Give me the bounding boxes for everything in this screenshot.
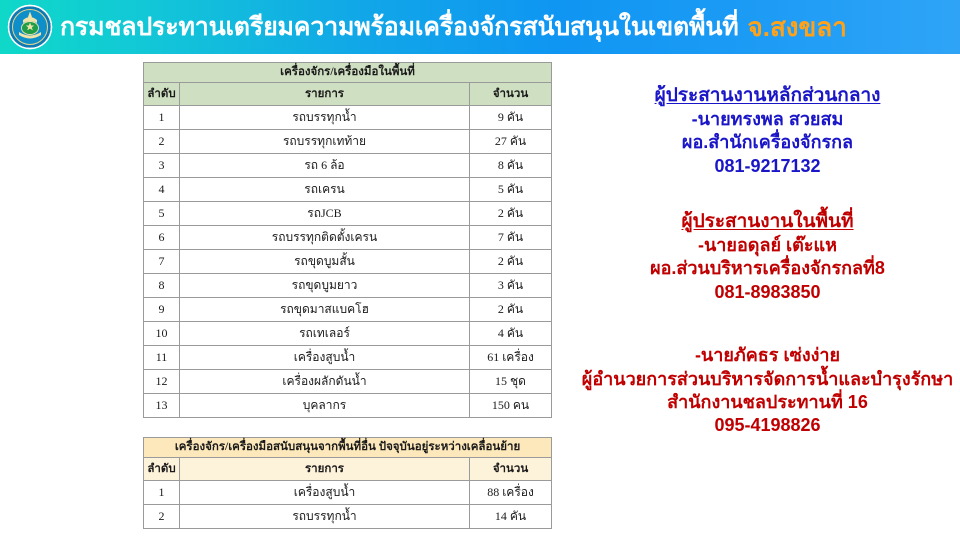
page-header: กรมชลประทานเตรียมความพร้อมเครื่องจักรสนั… xyxy=(0,0,960,54)
table-header-row: ลำดับ รายการ จำนวน xyxy=(144,458,552,481)
table-row: 10 รถเทเลอร์ 4 คัน xyxy=(144,322,552,346)
row-item: รถเครน xyxy=(180,178,470,202)
machinery-table-banner: เครื่องจักร/เครื่องมือในพื้นที่ xyxy=(144,63,552,83)
row-item: รถเทเลอร์ xyxy=(180,322,470,346)
row-qty: 27 คัน xyxy=(470,130,552,154)
table-row: 7 รถขุดบูมสั้น 2 คัน xyxy=(144,250,552,274)
row-qty: 8 คัน xyxy=(470,154,552,178)
row-qty: 14 คัน xyxy=(470,505,552,529)
row-no: 9 xyxy=(144,298,180,322)
contact-block-central-coordinator: ผู้ประสานงานหลักส่วนกลาง -นายทรงพล สวยสม… xyxy=(575,84,960,178)
row-no: 13 xyxy=(144,394,180,418)
row-qty: 15 ชุด xyxy=(470,370,552,394)
contact-name: -นายทรงพล สวยสม xyxy=(575,108,960,131)
row-item: รถ 6 ล้อ xyxy=(180,154,470,178)
row-no: 8 xyxy=(144,274,180,298)
row-qty: 3 คัน xyxy=(470,274,552,298)
contact-phone[interactable]: 081-8983850 xyxy=(575,281,960,304)
row-no: 1 xyxy=(144,106,180,130)
table-row: 2 รถบรรทุกเทท้าย 27 คัน xyxy=(144,130,552,154)
contact-role: ผอ.สำนักเครื่องจักรกล xyxy=(575,131,960,154)
page-title: กรมชลประทานเตรียมความพร้อมเครื่องจักรสนั… xyxy=(60,0,847,54)
table-row: 2 รถบรรทุกน้ำ 14 คัน xyxy=(144,505,552,529)
contact-role: ผู้อำนวยการส่วนบริหารจัดการน้ำและบำรุงรั… xyxy=(575,368,960,391)
row-item: รถบรรทุกเทท้าย xyxy=(180,130,470,154)
row-no: 6 xyxy=(144,226,180,250)
row-qty: 150 คน xyxy=(470,394,552,418)
contact-block-local-coordinator: ผู้ประสานงานในพื้นที่ -นายอดุลย์ เต๊ะแห … xyxy=(575,210,960,304)
contact-panel: ผู้ประสานงานหลักส่วนกลาง -นายทรงพล สวยสม… xyxy=(575,84,960,456)
incoming-support-machinery-table: เครื่องจักร/เครื่องมือสนับสนุนจากพื้นที่… xyxy=(143,437,552,529)
row-no: 7 xyxy=(144,250,180,274)
spacer xyxy=(575,322,960,344)
incoming-table-banner: เครื่องจักร/เครื่องมือสนับสนุนจากพื้นที่… xyxy=(144,438,552,458)
row-qty: 2 คัน xyxy=(470,202,552,226)
royal-irrigation-department-emblem-icon xyxy=(7,4,53,50)
row-qty: 5 คัน xyxy=(470,178,552,202)
spacer xyxy=(575,196,960,210)
table-row: 1 เครื่องสูบน้ำ 88 เครื่อง xyxy=(144,481,552,505)
page-title-main: กรมชลประทานเตรียมความพร้อมเครื่องจักรสนั… xyxy=(60,7,738,47)
row-qty: 2 คัน xyxy=(470,298,552,322)
table-row: 3 รถ 6 ล้อ 8 คัน xyxy=(144,154,552,178)
column-header-item: รายการ xyxy=(180,83,470,106)
row-no: 12 xyxy=(144,370,180,394)
incoming-table-body: 1 เครื่องสูบน้ำ 88 เครื่อง 2 รถบรรทุกน้ำ… xyxy=(144,481,552,529)
page-title-province: จ.สงขลา xyxy=(747,7,846,48)
column-header-no: ลำดับ xyxy=(144,83,180,106)
row-item: รถขุดมาสแบคโฮ xyxy=(180,298,470,322)
row-no: 1 xyxy=(144,481,180,505)
table-row: 4 รถเครน 5 คัน xyxy=(144,178,552,202)
table-banner-row: เครื่องจักร/เครื่องมือสนับสนุนจากพื้นที่… xyxy=(144,438,552,458)
table-row: 5 รถJCB 2 คัน xyxy=(144,202,552,226)
table-banner-row: เครื่องจักร/เครื่องมือในพื้นที่ xyxy=(144,63,552,83)
row-item: บุคลากร xyxy=(180,394,470,418)
contact-heading: ผู้ประสานงานในพื้นที่ xyxy=(575,210,960,234)
contact-name: -นายอดุลย์ เต๊ะแห xyxy=(575,234,960,257)
column-header-no: ลำดับ xyxy=(144,458,180,481)
column-header-qty: จำนวน xyxy=(470,83,552,106)
row-qty: 61 เครื่อง xyxy=(470,346,552,370)
contact-office: สำนักงานชลประทานที่ 16 xyxy=(575,391,960,414)
row-qty: 7 คัน xyxy=(470,226,552,250)
row-item: รถบรรทุกติดตั้งเครน xyxy=(180,226,470,250)
contact-heading: ผู้ประสานงานหลักส่วนกลาง xyxy=(575,84,960,108)
row-item: รถบรรทุกน้ำ xyxy=(180,505,470,529)
table-row: 13 บุคลากร 150 คน xyxy=(144,394,552,418)
row-no: 11 xyxy=(144,346,180,370)
contact-name: -นายภัคธร เซ่งง่าย xyxy=(575,344,960,367)
table-header-row: ลำดับ รายการ จำนวน xyxy=(144,83,552,106)
table-row: 11 เครื่องสูบน้ำ 61 เครื่อง xyxy=(144,346,552,370)
row-qty: 4 คัน xyxy=(470,322,552,346)
row-qty: 88 เครื่อง xyxy=(470,481,552,505)
row-no: 2 xyxy=(144,505,180,529)
row-item: รถJCB xyxy=(180,202,470,226)
row-item: รถขุดบูมยาว xyxy=(180,274,470,298)
contact-block-water-management-director: -นายภัคธร เซ่งง่าย ผู้อำนวยการส่วนบริหาร… xyxy=(575,344,960,438)
contact-phone[interactable]: 081-9217132 xyxy=(575,155,960,178)
row-no: 5 xyxy=(144,202,180,226)
row-item: เครื่องสูบน้ำ xyxy=(180,481,470,505)
row-item: เครื่องสูบน้ำ xyxy=(180,346,470,370)
row-item: เครื่องผลักดันน้ำ xyxy=(180,370,470,394)
table-row: 6 รถบรรทุกติดตั้งเครน 7 คัน xyxy=(144,226,552,250)
row-qty: 2 คัน xyxy=(470,250,552,274)
contact-role: ผอ.ส่วนบริหารเครื่องจักรกลที่8 xyxy=(575,257,960,280)
row-item: รถขุดบูมสั้น xyxy=(180,250,470,274)
table-row: 9 รถขุดมาสแบคโฮ 2 คัน xyxy=(144,298,552,322)
row-item: รถบรรทุกน้ำ xyxy=(180,106,470,130)
table-row: 12 เครื่องผลักดันน้ำ 15 ชุด xyxy=(144,370,552,394)
table-row: 1 รถบรรทุกน้ำ 9 คัน xyxy=(144,106,552,130)
column-header-qty: จำนวน xyxy=(470,458,552,481)
row-no: 3 xyxy=(144,154,180,178)
column-header-item: รายการ xyxy=(180,458,470,481)
machinery-in-area-table: เครื่องจักร/เครื่องมือในพื้นที่ ลำดับ รา… xyxy=(143,62,552,418)
row-no: 2 xyxy=(144,130,180,154)
row-qty: 9 คัน xyxy=(470,106,552,130)
row-no: 10 xyxy=(144,322,180,346)
machinery-table-body: 1 รถบรรทุกน้ำ 9 คัน 2 รถบรรทุกเทท้าย 27 … xyxy=(144,106,552,418)
row-no: 4 xyxy=(144,178,180,202)
table-row: 8 รถขุดบูมยาว 3 คัน xyxy=(144,274,552,298)
contact-phone[interactable]: 095-4198826 xyxy=(575,414,960,437)
